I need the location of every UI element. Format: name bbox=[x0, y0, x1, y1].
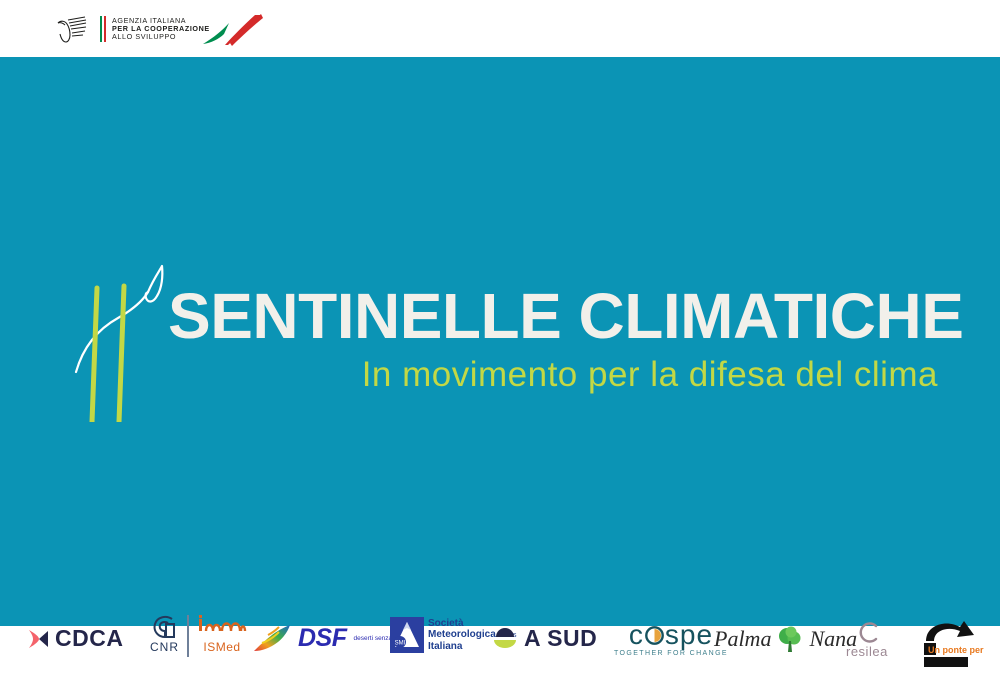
arrow-bracket-icon bbox=[28, 628, 50, 650]
ismed-block: ISMed bbox=[197, 615, 247, 654]
bridge-arrow-icon: Un ponte per bbox=[912, 617, 984, 669]
slide-body: SENTINELLE CLIMATICHE In movimento per l… bbox=[0, 57, 1000, 626]
c-arc-icon bbox=[854, 621, 880, 643]
agency-line-3: ALLO SVILUPPO bbox=[112, 33, 210, 41]
cospe-label-after: spe bbox=[665, 621, 713, 649]
smi-line-3: Italiana bbox=[428, 641, 496, 652]
cnr-block: CNR bbox=[150, 615, 179, 654]
rainbow-swoosh-icon bbox=[252, 621, 294, 655]
green-tree-icon bbox=[773, 625, 807, 653]
agency-name: AGENZIA ITALIANA PER LA COOPERAZIONE ALL… bbox=[112, 17, 210, 40]
slide-root: AGENZIA ITALIANA PER LA COOPERAZIONE ALL… bbox=[0, 0, 1000, 626]
smi-line-2: Meteorologica bbox=[428, 629, 496, 640]
cnr-divider bbox=[187, 615, 189, 657]
ismed-label: ISMed bbox=[203, 640, 240, 654]
cdca-label: CDCA bbox=[55, 625, 123, 652]
asud-label: A SUD bbox=[524, 625, 597, 652]
smi-name: Società Meteorologica Italiana bbox=[428, 618, 496, 652]
agency-logo: AGENZIA ITALIANA PER LA COOPERAZIONE ALL… bbox=[54, 14, 210, 44]
partner-logo-cdca: CDCA bbox=[28, 625, 123, 652]
italian-flag-strokes-icon bbox=[199, 12, 269, 48]
cospe-label-before: c bbox=[629, 621, 644, 649]
partner-logo-asud: A SUD bbox=[492, 625, 597, 652]
partner-logo-resilea: resilea bbox=[846, 621, 888, 659]
sun-bowl-icon bbox=[492, 628, 518, 650]
hero-block: SENTINELLE CLIMATICHE In movimento per l… bbox=[70, 262, 950, 422]
page-title: SENTINELLE CLIMATICHE bbox=[168, 284, 963, 348]
palma-word-1: Palma bbox=[714, 626, 771, 652]
page-subtitle: In movimento per la difesa del clima bbox=[168, 357, 938, 392]
header-bar: AGENZIA ITALIANA PER LA COOPERAZIONE ALL… bbox=[0, 0, 1000, 57]
resilea-label: resilea bbox=[846, 644, 888, 659]
partner-logo-un-ponte-per: Un ponte per bbox=[912, 617, 984, 669]
partner-logo-strip: CDCA CNR bbox=[0, 605, 1000, 683]
flag-bars-icon bbox=[100, 16, 106, 42]
partner-logo-palma-nana: Palma Nana bbox=[714, 625, 857, 653]
hand-dove-icon bbox=[54, 14, 94, 44]
two-stems-with-leaf-icon bbox=[70, 262, 175, 422]
mountain-icon: SMI bbox=[390, 617, 424, 653]
smi-line-1: Società bbox=[428, 618, 496, 629]
ismed-wave-icon bbox=[197, 615, 247, 639]
cospe-wordmark: c spe bbox=[629, 621, 713, 649]
cnr-label: CNR bbox=[150, 640, 179, 654]
cospe-tagline: TOGETHER FOR CHANGE bbox=[614, 650, 728, 657]
cnr-monogram-icon bbox=[152, 615, 178, 639]
partner-logo-cnr-ismed: CNR ISMed bbox=[150, 615, 247, 657]
orange-lens-icon bbox=[645, 626, 664, 645]
partner-logo-cospe: c spe TOGETHER FOR CHANGE bbox=[614, 621, 728, 657]
svg-text:Un ponte per: Un ponte per bbox=[928, 645, 984, 655]
dsf-label: DSF bbox=[298, 624, 347, 653]
svg-text:SMI: SMI bbox=[395, 641, 406, 647]
